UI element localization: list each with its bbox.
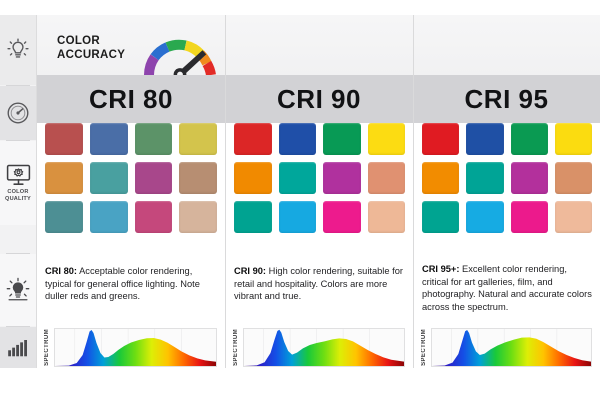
lightbulb-rays-icon xyxy=(6,277,30,303)
spectrum-curve-cri-95 xyxy=(432,329,591,366)
color-swatch[interactable] xyxy=(234,201,272,233)
color-swatch[interactable] xyxy=(323,201,361,233)
sidebar: COLOR QUALITY xyxy=(0,15,37,368)
sidebar-item-analytics[interactable] xyxy=(0,327,36,368)
color-swatch[interactable] xyxy=(279,123,317,155)
swatch-grid-cri-95 xyxy=(414,123,600,233)
monitor-gear-icon xyxy=(6,164,31,186)
column-cri-90: CRI 90: High color rendering, suitable f… xyxy=(226,15,413,368)
spectrum-chart-cri-90: SPECTRUM xyxy=(226,327,413,368)
color-swatch[interactable] xyxy=(555,201,592,233)
color-swatch[interactable] xyxy=(135,162,173,194)
sidebar-item-ideas[interactable] xyxy=(0,254,36,326)
color-swatch[interactable] xyxy=(279,162,317,194)
column-cri-80: CRI 80: Acceptable color rendering, typi… xyxy=(37,15,225,368)
swatch-area-cri-95 xyxy=(414,123,600,253)
color-swatch[interactable] xyxy=(90,123,128,155)
color-swatch[interactable] xyxy=(323,123,361,155)
color-swatch[interactable] xyxy=(422,162,459,194)
gauge-icon xyxy=(6,101,30,125)
color-swatch[interactable] xyxy=(555,162,592,194)
swatch-grid-cri-90 xyxy=(226,123,413,233)
spectrum-axis-label: SPECTRUM xyxy=(418,327,429,368)
color-swatch[interactable] xyxy=(368,123,406,155)
color-swatch[interactable] xyxy=(179,201,217,233)
color-swatch[interactable] xyxy=(368,201,406,233)
sidebar-item-lighting[interactable] xyxy=(0,15,36,85)
description-lead: CRI 90: xyxy=(234,266,266,276)
spectrum-curve-cri-80 xyxy=(55,329,216,366)
color-swatch[interactable] xyxy=(45,123,83,155)
color-swatch[interactable] xyxy=(45,201,83,233)
color-swatch[interactable] xyxy=(234,162,272,194)
spectrum-axis-label: SPECTRUM xyxy=(230,327,241,368)
spectrum-plot xyxy=(54,328,217,367)
description-cri-90: CRI 90: High color rendering, suitable f… xyxy=(226,265,413,327)
spectrum-plot xyxy=(243,328,405,367)
description-cri-80: CRI 80: Acceptable color rendering, typi… xyxy=(37,265,225,327)
spectrum-chart-cri-80: SPECTRUM xyxy=(37,327,225,368)
color-swatch[interactable] xyxy=(422,123,459,155)
color-swatch[interactable] xyxy=(90,162,128,194)
description-cri-95: CRI 95+: Excellent color rendering, crit… xyxy=(414,263,600,329)
color-swatch[interactable] xyxy=(466,162,503,194)
swatch-grid-cri-80 xyxy=(37,123,225,233)
color-swatch[interactable] xyxy=(466,201,503,233)
lightbulb-icon xyxy=(7,38,29,62)
color-swatch[interactable] xyxy=(179,123,217,155)
color-swatch[interactable] xyxy=(368,162,406,194)
color-swatch[interactable] xyxy=(511,123,548,155)
color-accuracy-panel: COLOR QUALITY xyxy=(0,15,600,368)
color-swatch[interactable] xyxy=(279,201,317,233)
sidebar-item-color-quality[interactable]: COLOR QUALITY xyxy=(0,141,36,225)
color-swatch[interactable] xyxy=(135,123,173,155)
spectrum-curve-cri-90 xyxy=(244,329,404,366)
color-swatch[interactable] xyxy=(511,162,548,194)
description-lead: CRI 80: xyxy=(45,266,77,276)
color-swatch[interactable] xyxy=(234,123,272,155)
color-swatch[interactable] xyxy=(422,201,459,233)
sidebar-item-label: COLOR QUALITY xyxy=(0,189,36,203)
color-swatch[interactable] xyxy=(511,201,548,233)
description-lead: CRI 95+: xyxy=(422,264,459,274)
color-swatch[interactable] xyxy=(135,201,173,233)
swatch-area-cri-80 xyxy=(37,123,225,253)
swatch-area-cri-90 xyxy=(226,123,413,253)
spectrum-axis-label: SPECTRUM xyxy=(41,327,52,368)
color-swatch[interactable] xyxy=(90,201,128,233)
spectrum-plot xyxy=(431,328,592,367)
color-swatch[interactable] xyxy=(45,162,83,194)
bar-chart-icon xyxy=(6,338,30,358)
color-swatch[interactable] xyxy=(323,162,361,194)
color-swatch[interactable] xyxy=(555,123,592,155)
column-cri-95: CRI 95+: Excellent color rendering, crit… xyxy=(414,15,600,368)
sidebar-item-performance[interactable] xyxy=(0,86,36,140)
color-swatch[interactable] xyxy=(466,123,503,155)
color-swatch[interactable] xyxy=(179,162,217,194)
spectrum-chart-cri-95: SPECTRUM xyxy=(414,327,600,368)
